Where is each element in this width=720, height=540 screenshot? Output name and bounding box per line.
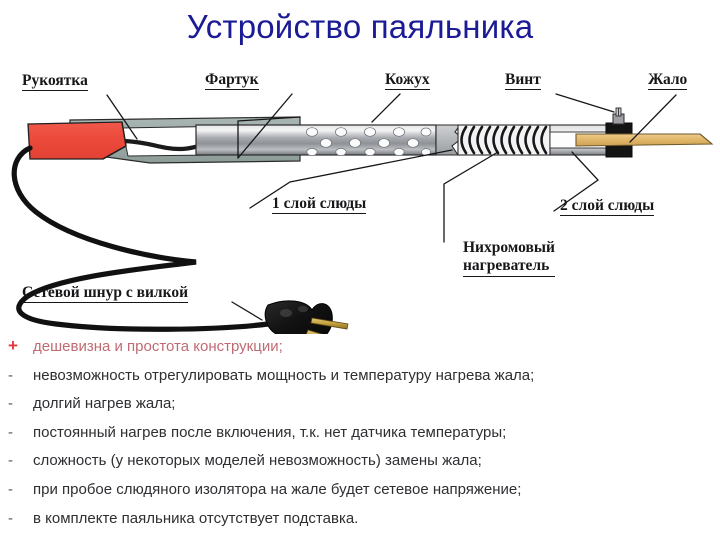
plus-marker: + xyxy=(8,336,26,356)
list-item: - в комплекте паяльника отсутствует подс… xyxy=(0,508,720,537)
pros-cons-list: + дешевизна и простота конструкции; - не… xyxy=(0,336,720,536)
plug-shape xyxy=(265,301,348,334)
label-mica-layer-1: 1 слой слюды xyxy=(272,195,366,214)
label-nichrome-heater: Нихромовый нагреватель xyxy=(463,239,555,277)
handle-shape xyxy=(28,122,126,159)
list-item: + дешевизна и простота конструкции; xyxy=(0,336,720,365)
label-tip: Жало xyxy=(648,71,687,90)
label-handle: Рукоятка xyxy=(22,72,88,91)
label-power-cord: Сетевой шнур с вилкой xyxy=(22,284,188,303)
casing-shape xyxy=(196,125,436,156)
label-casing: Кожух xyxy=(385,71,430,90)
minus-marker: - xyxy=(8,424,26,441)
tip-shape xyxy=(576,134,712,146)
list-item: - сложность (у некоторых моделей невозмо… xyxy=(0,450,720,479)
nichrome-heater-coil xyxy=(458,125,550,155)
minus-marker: - xyxy=(8,481,26,498)
label-apron: Фартук xyxy=(205,71,259,90)
minus-marker: - xyxy=(8,452,26,469)
list-item-text: постоянный нагрев после включения, т.к. … xyxy=(33,424,506,441)
label-mica-layer-2: 2 слой слюды xyxy=(560,197,654,216)
list-item-text: при пробое слюдяного изолятора на жале б… xyxy=(33,481,521,498)
slide-root: Устройство паяльника xyxy=(0,0,720,540)
list-item: - долгий нагрев жала; xyxy=(0,393,720,422)
list-item-text: долгий нагрев жала; xyxy=(33,395,175,412)
list-item-text: невозможность отрегулировать мощность и … xyxy=(33,367,534,384)
label-screw: Винт xyxy=(505,71,541,90)
minus-marker: - xyxy=(8,367,26,384)
list-item: - постоянный нагрев после включения, т.к… xyxy=(0,422,720,451)
list-item-text: в комплекте паяльника отсутствует подста… xyxy=(33,510,358,527)
minus-marker: - xyxy=(8,395,26,412)
list-item-text: дешевизна и простота конструкции; xyxy=(33,338,283,355)
minus-marker: - xyxy=(8,510,26,527)
page-title: Устройство паяльника xyxy=(0,8,720,46)
screw-shape xyxy=(613,108,624,124)
list-item: - при пробое слюдяного изолятора на жале… xyxy=(0,479,720,508)
list-item: - невозможность отрегулировать мощность … xyxy=(0,365,720,394)
soldering-iron-diagram: Рукоятка Фартук Кожух Винт Жало 1 слой с… xyxy=(0,62,720,334)
list-item-text: сложность (у некоторых моделей невозможн… xyxy=(33,452,482,469)
